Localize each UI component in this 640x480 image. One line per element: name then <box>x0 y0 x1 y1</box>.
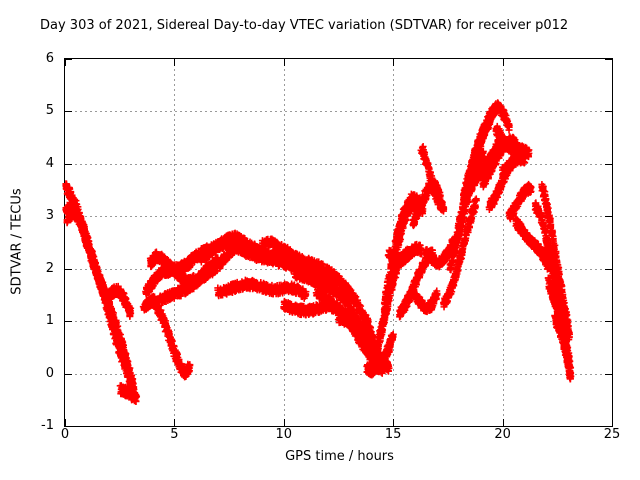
x-axis-title: GPS time / hours <box>65 449 614 464</box>
x-tick-label: 15 <box>371 428 415 441</box>
x-tick-label: 10 <box>262 428 306 441</box>
y-tick-label: 6 <box>14 52 54 65</box>
x-tick-label: 5 <box>152 428 196 441</box>
scatter-data-layer <box>65 59 612 426</box>
page-title: Day 303 of 2021, Sidereal Day-to-day VTE… <box>40 18 568 34</box>
x-tick-label: 0 <box>43 428 87 441</box>
plot-area: -10123456 0510152025 SDTVAR / TECUs GPS … <box>64 58 613 427</box>
y-axis-title: SDTVAR / TECUs <box>10 131 25 351</box>
x-tick-label: 25 <box>590 428 634 441</box>
y-tick-label: 5 <box>14 104 54 117</box>
y-tick-label: 0 <box>14 367 54 380</box>
plot-figure: Day 303 of 2021, Sidereal Day-to-day VTE… <box>0 0 640 480</box>
x-tick-label: 20 <box>481 428 525 441</box>
